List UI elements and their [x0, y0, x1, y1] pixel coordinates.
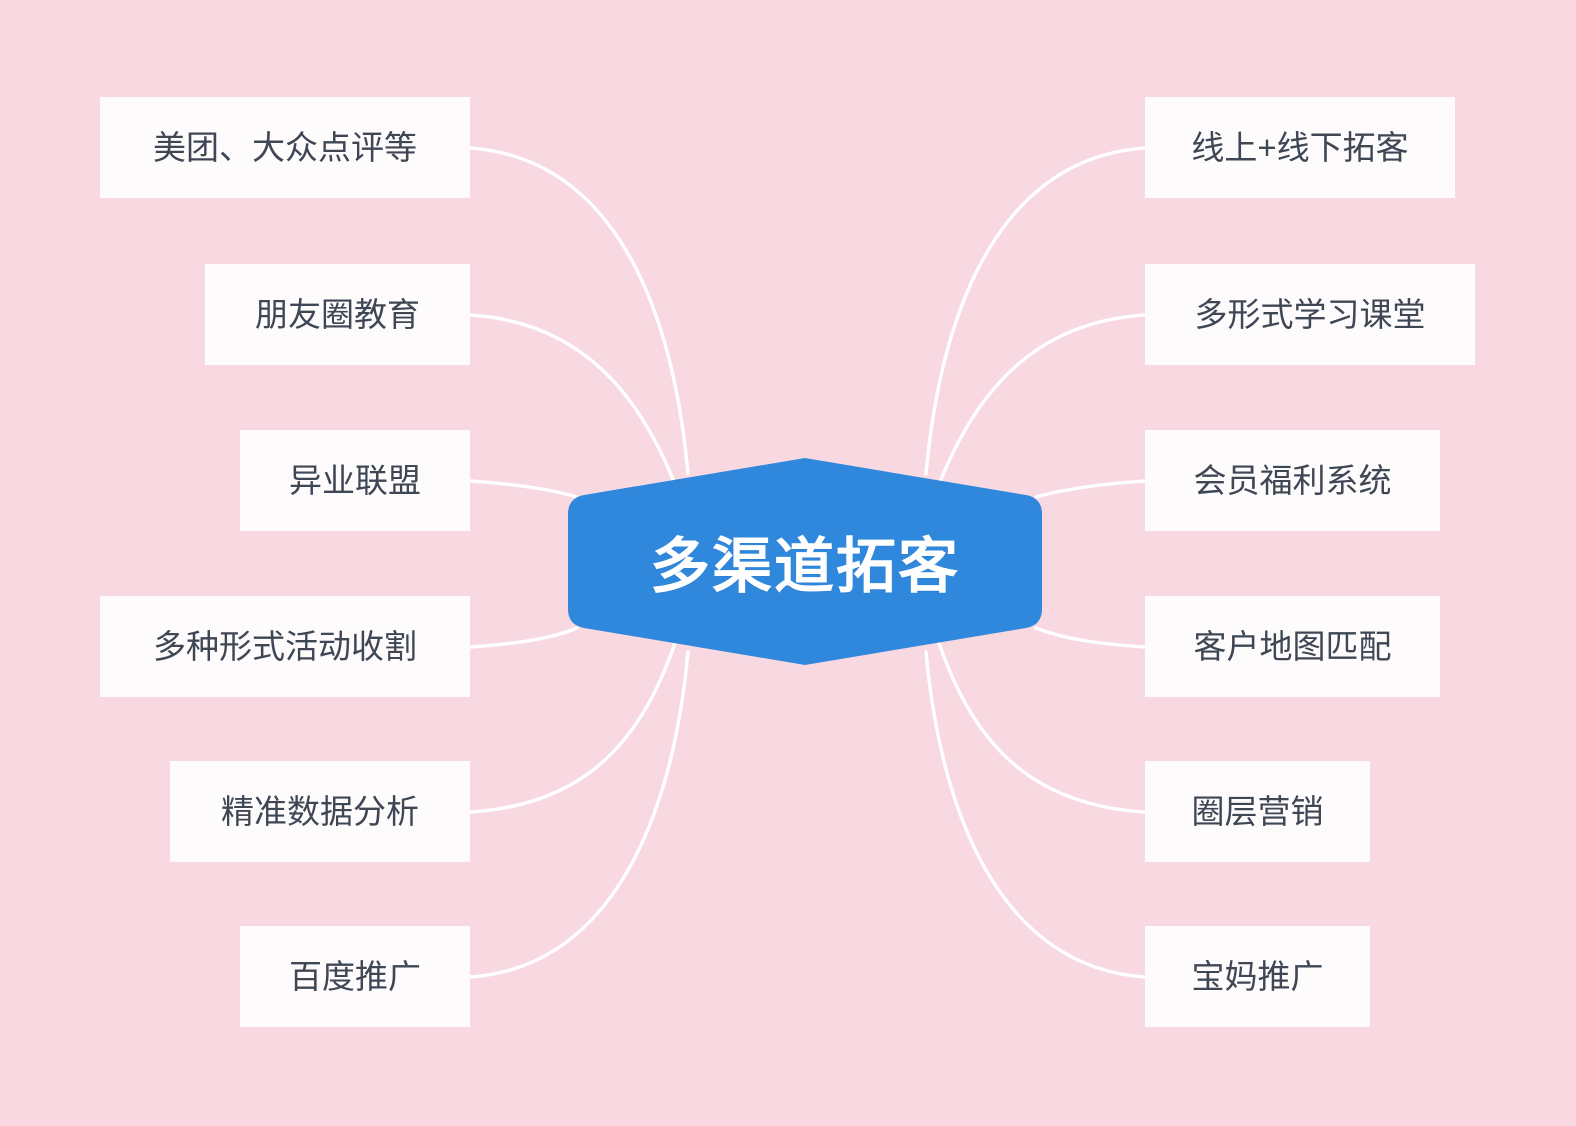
branch-node-label: 宝妈推广 [1192, 960, 1324, 993]
branch-node-label: 精准数据分析 [221, 795, 419, 828]
branch-node-label: 线上+线下拓客 [1191, 131, 1408, 164]
branch-node-left-0[interactable]: 美团、大众点评等 [100, 97, 470, 198]
branch-node-label: 美团、大众点评等 [153, 131, 417, 164]
connector-left-0 [470, 148, 688, 474]
branch-node-right-0[interactable]: 线上+线下拓客 [1145, 97, 1455, 198]
connector-right-2 [1036, 481, 1145, 497]
branch-node-label: 客户地图匹配 [1194, 630, 1392, 663]
connector-right-3 [1036, 628, 1145, 647]
mindmap-canvas: 美团、大众点评等朋友圈教育异业联盟多种形式活动收割精准数据分析百度推广线上+线下… [0, 0, 1576, 1126]
connector-left-3 [470, 628, 577, 647]
branch-node-label: 会员福利系统 [1194, 464, 1392, 497]
branch-node-right-3[interactable]: 客户地图匹配 [1145, 596, 1440, 697]
connector-left-5 [470, 652, 688, 977]
branch-node-right-5[interactable]: 宝妈推广 [1145, 926, 1370, 1027]
central-node-label: 多渠道拓客 [566, 455, 1044, 668]
central-node[interactable]: 多渠道拓客 [566, 455, 1044, 668]
branch-node-label: 多形式学习课堂 [1195, 298, 1426, 331]
connector-right-0 [926, 148, 1145, 474]
branch-node-left-2[interactable]: 异业联盟 [240, 430, 470, 531]
branch-node-left-1[interactable]: 朋友圈教育 [205, 264, 470, 365]
branch-node-right-4[interactable]: 圈层营销 [1145, 761, 1370, 862]
branch-node-label: 圈层营销 [1192, 795, 1324, 828]
branch-node-left-3[interactable]: 多种形式活动收割 [100, 596, 470, 697]
branch-node-label: 朋友圈教育 [255, 298, 420, 331]
branch-node-label: 多种形式活动收割 [153, 630, 417, 663]
branch-node-right-2[interactable]: 会员福利系统 [1145, 430, 1440, 531]
branch-node-right-1[interactable]: 多形式学习课堂 [1145, 264, 1475, 365]
branch-node-left-5[interactable]: 百度推广 [240, 926, 470, 1027]
branch-node-label: 异业联盟 [289, 464, 421, 497]
connector-left-2 [470, 481, 577, 497]
branch-node-left-4[interactable]: 精准数据分析 [170, 761, 470, 862]
connector-right-5 [926, 652, 1145, 977]
branch-node-label: 百度推广 [289, 960, 421, 993]
